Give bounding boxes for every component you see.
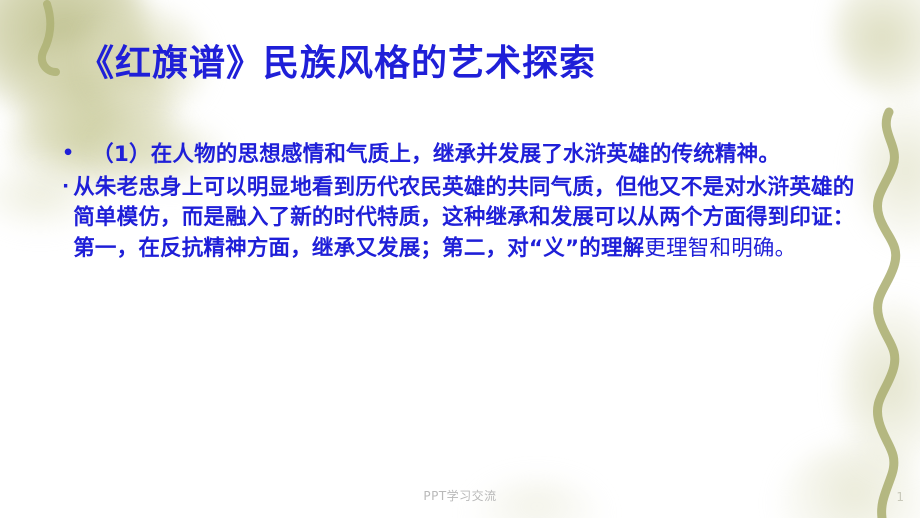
bullet-text-normal: 更理智和明确。 [644,236,796,261]
footer-note: PPT学习交流 [0,487,920,504]
bullet-text: 从朱老忠身上可以明显地看到历代农民英雄的共同气质，但他又不是对水浒英雄的简单模仿… [73,173,862,265]
bullet-marker-icon: · [62,173,73,199]
watercolor-blob-icon [856,96,920,246]
bullet-item: · 从朱老忠身上可以明显地看到历代农民英雄的共同气质，但他又不是对水浒英雄的简单… [62,173,862,265]
slide-canvas: 《红旗谱》民族风格的艺术探索 • （1）在人物的思想感情和气质上，继承并发展了水… [0,0,920,518]
slide-body: • （1）在人物的思想感情和气质上，继承并发展了水浒英雄的传统精神。 · 从朱老… [62,140,862,266]
watercolor-blob-icon [840,300,920,470]
bullet-text: （1）在人物的思想感情和气质上，继承并发展了水浒英雄的传统精神。 [82,140,862,171]
bullet-item: • （1）在人物的思想感情和气质上，继承并发展了水浒英雄的传统精神。 [62,140,862,171]
watercolor-blob-icon [834,0,920,96]
slide-title: 《红旗谱》民族风格的艺术探索 [78,34,596,86]
page-number: 1 [896,490,904,504]
watercolor-blob-icon [780,444,920,518]
bullet-marker-icon: • [62,140,82,166]
